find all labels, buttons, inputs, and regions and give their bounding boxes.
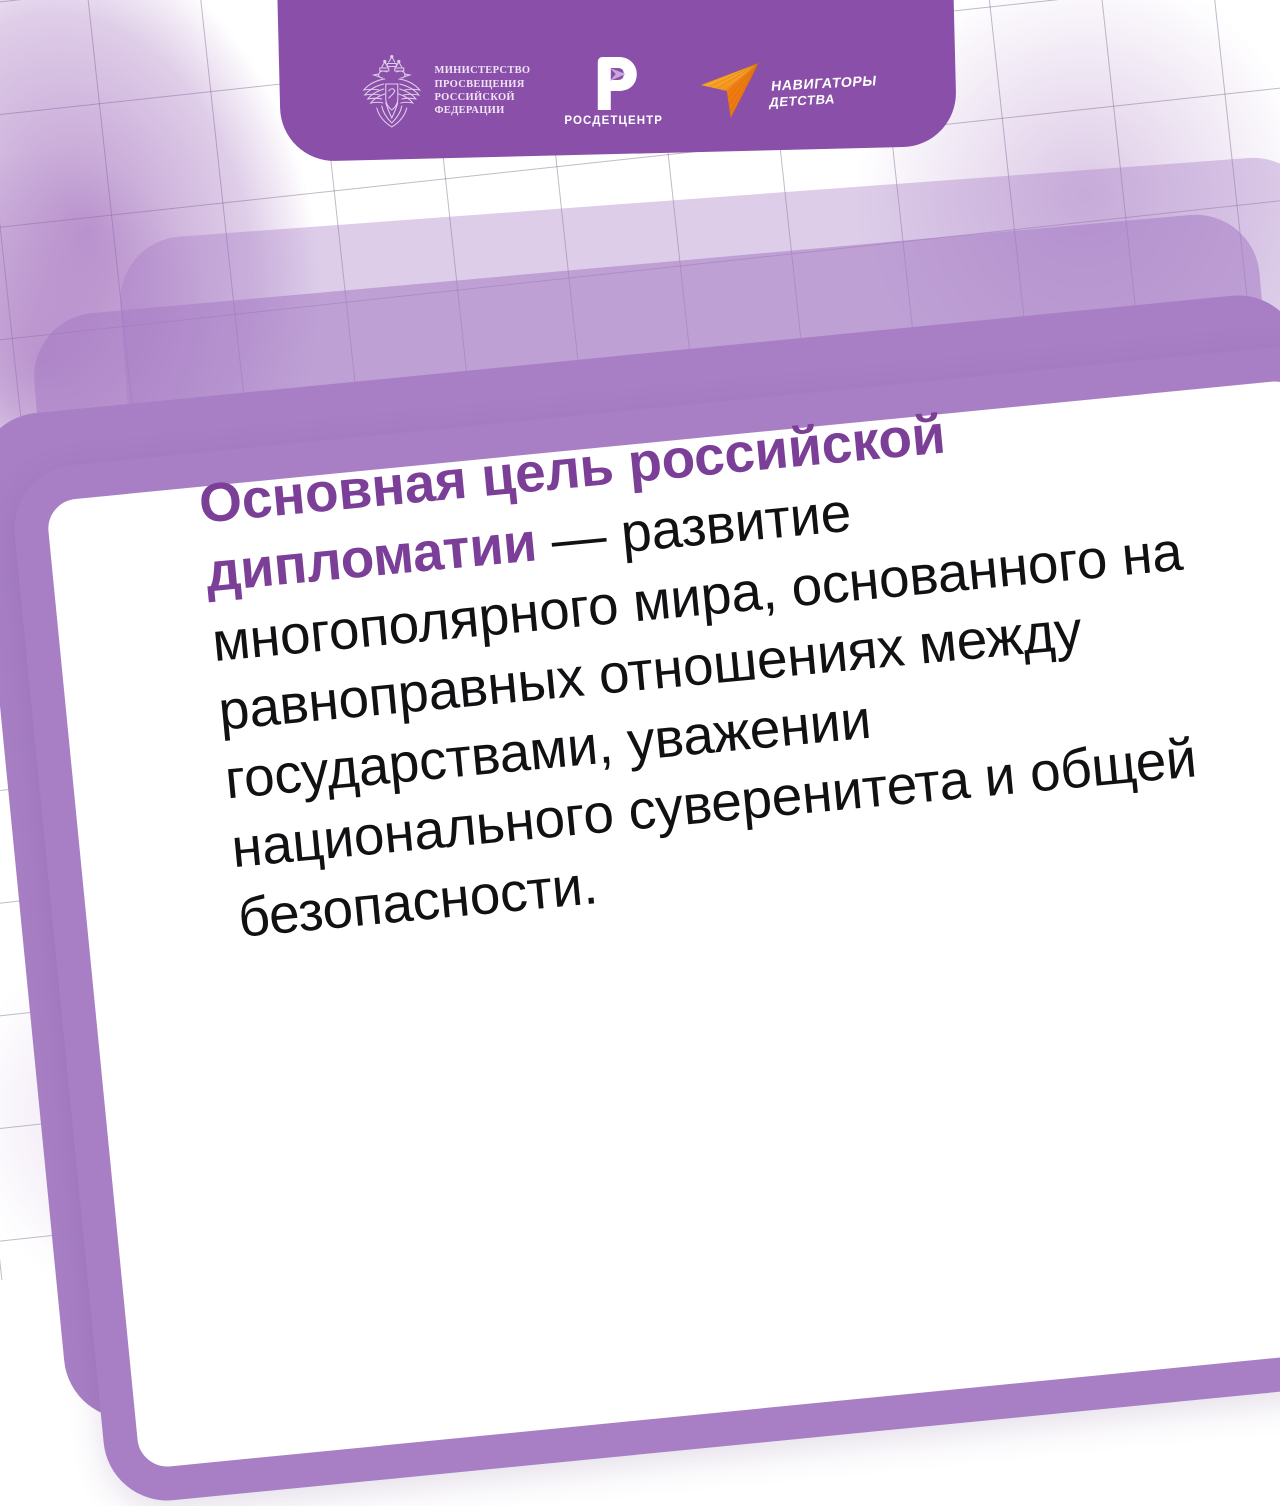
rosdetcentr-wordmark: РОСДЕТЦЕНТР [564, 115, 663, 127]
double-headed-eagle-emblem-icon [359, 54, 423, 128]
navigatory-wordmark: НАВИГАТОРЫ ДЕТСТВА [769, 73, 878, 108]
orange-paper-plane-icon [697, 58, 763, 124]
logo-rosdetcentr: РОСДЕТЦЕНТР [564, 55, 663, 127]
header-bar: МИНИСТЕРСТВО ПРОСВЕЩЕНИЯ РОССИЙСКОЙ ФЕДЕ… [275, 0, 957, 162]
header-logo-row: МИНИСТЕРСТВО ПРОСВЕЩЕНИЯ РОССИЙСКОЙ ФЕДЕ… [280, 54, 956, 128]
ministry-line-2: ПРОСВЕЩЕНИЯ [434, 78, 530, 91]
ministry-line-4: ФЕДЕРАЦИИ [434, 104, 530, 117]
statement-container: Основная цель российской дипломатии — ра… [196, 377, 1227, 953]
ministry-wordmark: МИНИСТЕРСТВО ПРОСВЕЩЕНИЯ РОССИЙСКОЙ ФЕДЕ… [434, 64, 530, 118]
rosdetcentr-p-mark-icon [588, 55, 640, 111]
ministry-line-1: МИНИСТЕРСТВО [434, 64, 530, 77]
navigatory-line-1: НАВИГАТОРЫ [771, 73, 878, 92]
navigatory-line-2: ДЕТСТВА [769, 90, 876, 108]
logo-navigatory-detstva: НАВИГАТОРЫ ДЕТСТВА [697, 58, 876, 124]
logo-ministry: МИНИСТЕРСТВО ПРОСВЕЩЕНИЯ РОССИЙСКОЙ ФЕДЕ… [359, 54, 530, 128]
ministry-line-3: РОССИЙСКОЙ [434, 91, 530, 104]
statement-text: Основная цель российской дипломатии — ра… [196, 377, 1227, 953]
